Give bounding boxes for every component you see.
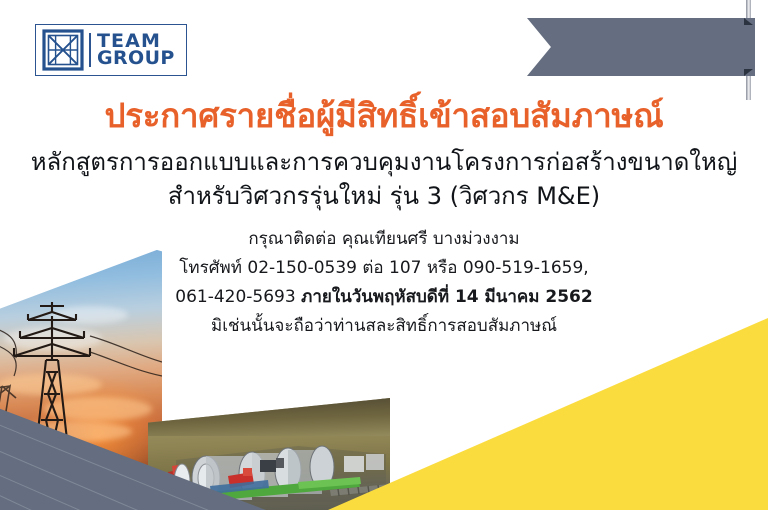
gray-flag-banner — [527, 18, 755, 76]
course-subtitle-line-1: หลักสูตรการออกแบบและการควบคุมงานโครงการก… — [0, 147, 768, 178]
page-title: ประกาศรายชื่อผู้มีสิทธิ์เข้าสอบสัมภาษณ์ — [0, 96, 768, 136]
phone-line: โทรศัพท์ 02-150-0539 ต่อ 107 หรือ 090-51… — [0, 254, 768, 283]
poster-canvas: TEAM GROUP — [0, 0, 768, 510]
logo-divider — [89, 33, 91, 67]
yellow-diagonal-triangle — [328, 318, 768, 510]
team-group-logo: TEAM GROUP — [35, 24, 187, 76]
notice-line: มิเช่นนั้นจะถือว่าท่านสละสิทธิ์การสอบสัม… — [0, 312, 768, 341]
deadline-date: ภายในวันพฤหัสบดีที่ 14 มีนาคม 2562 — [301, 287, 593, 307]
deadline-phone: 061-420-5693 — [175, 287, 301, 307]
deadline-line: 061-420-5693 ภายในวันพฤหัสบดีที่ 14 มีนา… — [0, 283, 768, 312]
contact-details: กรุณาติดต่อ คุณเทียนศรี บางม่วงงาม โทรศั… — [0, 225, 768, 342]
logo-text-group: GROUP — [97, 50, 175, 67]
logo-wordmark: TEAM GROUP — [97, 33, 175, 68]
contact-person-line: กรุณาติดต่อ คุณเทียนศรี บางม่วงงาม — [0, 225, 768, 254]
poster-text-block: ประกาศรายชื่อผู้มีสิทธิ์เข้าสอบสัมภาษณ์ … — [0, 96, 768, 342]
team-group-woven-square-icon — [42, 29, 84, 71]
course-subtitle-line-2: สำหรับวิศวกรรุ่นใหม่ รุ่น 3 (วิศวกร M&E) — [0, 181, 768, 212]
